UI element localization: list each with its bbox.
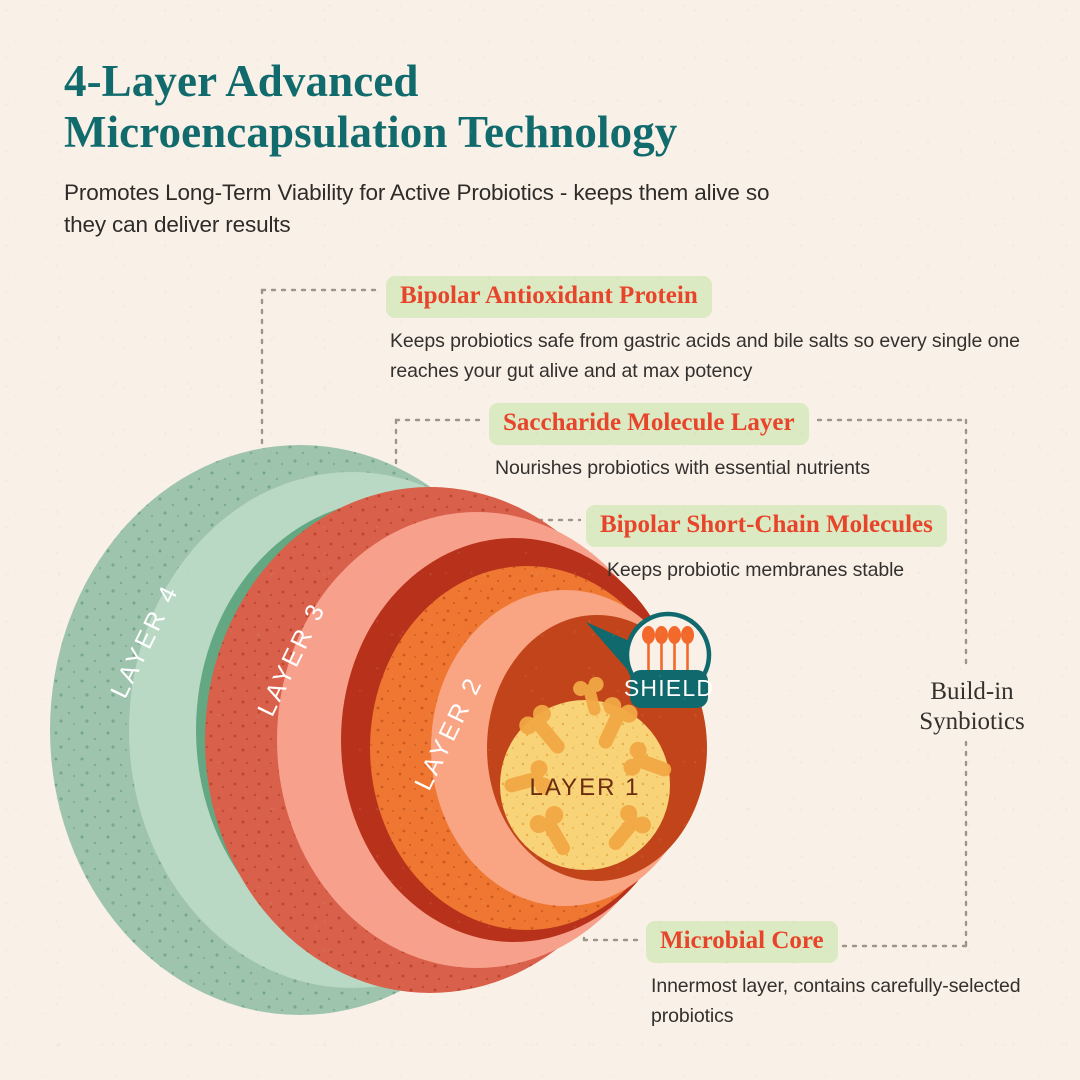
badge-label: SHIELD xyxy=(624,675,714,701)
shield-badge[interactable]: SHIELD xyxy=(0,0,1080,1080)
infographic-canvas: LAYER 4 LAYER 3 LAYER 2 LAYER 1 xyxy=(0,0,1080,1080)
